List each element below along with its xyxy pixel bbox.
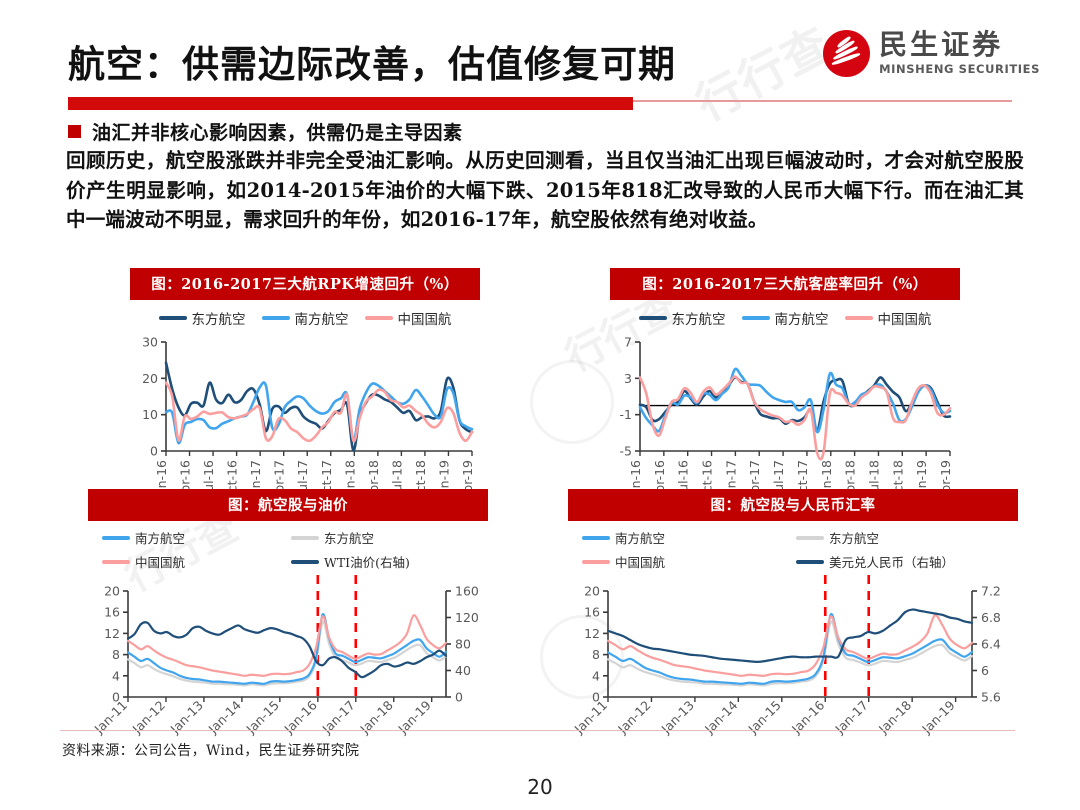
svg-text:16: 16 [104, 605, 120, 620]
chart-plot: 04812162004080120160Jan-11Jan-12Jan-13Ja… [88, 573, 488, 763]
legend-item: 美元兑人民币（右轴） [796, 552, 954, 571]
svg-text:6.8: 6.8 [981, 610, 1001, 625]
footer-divider [60, 730, 1015, 731]
legend-swatch-icon [102, 560, 130, 564]
svg-text:40: 40 [455, 663, 471, 678]
legend-swatch-icon [159, 316, 187, 320]
legend-label: 中国国航 [135, 552, 185, 571]
slide-root: 行行查 行行查 行行查 航空：供需边际改善，估值修复可期 民生证券 MINSHE… [0, 0, 1080, 810]
series-line [608, 610, 972, 662]
legend-item: 东方航空 [291, 528, 374, 547]
legend-label: 南方航空 [615, 528, 665, 547]
page-number: 20 [0, 775, 1080, 799]
legend-item: 东方航空 [159, 308, 246, 328]
legend-swatch-icon [582, 560, 610, 564]
legend-label: 美元兑人民币（右轴） [829, 552, 954, 571]
legend-item: 东方航空 [796, 528, 879, 547]
series-line [166, 363, 472, 451]
minsheng-logo-icon [823, 30, 870, 77]
legend-swatch-icon [845, 316, 873, 320]
chart-title: 图：2016-2017三大航RPK增速回升（%） [130, 268, 480, 300]
svg-text:80: 80 [455, 637, 471, 652]
legend-item: 中国国航 [845, 308, 932, 328]
legend-item: 中国国航 [102, 552, 185, 571]
legend-swatch-icon [582, 536, 610, 540]
series-line [608, 615, 972, 676]
legend-swatch-icon [639, 316, 667, 320]
chart-legend: 东方航空南方航空中国国航 [130, 300, 480, 330]
legend-swatch-icon [742, 316, 770, 320]
svg-text:20: 20 [584, 584, 600, 599]
svg-text:30: 30 [142, 335, 158, 350]
chart-legend: 东方航空南方航空中国国航 [610, 300, 960, 330]
logo-name-cn: 民生证券 [879, 31, 1040, 59]
svg-text:20: 20 [142, 371, 158, 386]
svg-text:12: 12 [104, 626, 120, 641]
svg-text:20: 20 [104, 584, 120, 599]
legend-item: WTI油价(右轴) [291, 552, 410, 571]
source-note: 资料来源：公司公告，Wind，民生证券研究院 [62, 740, 359, 760]
legend-label: 中国国航 [878, 308, 932, 328]
legend-swatch-icon [796, 560, 824, 564]
chart-legend: 南方航空东方航空中国国航WTI油价(右轴) [88, 521, 488, 573]
chart-panel-fx: 图：航空股与人民币汇率南方航空东方航空中国国航美元兑人民币（右轴）0481216… [568, 489, 1018, 767]
legend-item: 南方航空 [742, 308, 829, 328]
bullet-heading: 油汇并非核心影响因素，供需仍是主导因素 [68, 118, 463, 145]
chart-legend: 南方航空东方航空中国国航美元兑人民币（右轴） [568, 521, 1018, 573]
legend-item: 东方航空 [639, 308, 726, 328]
legend-swatch-icon [365, 316, 393, 320]
svg-text:12: 12 [584, 626, 600, 641]
svg-text:-1: -1 [620, 407, 632, 422]
company-logo: 民生证券 MINSHENG SECURITIES [823, 30, 1040, 77]
svg-text:8: 8 [112, 647, 120, 662]
legend-swatch-icon [796, 536, 824, 540]
legend-label: 南方航空 [775, 308, 829, 328]
svg-text:4: 4 [112, 668, 120, 683]
legend-item: 南方航空 [102, 528, 185, 547]
header-rule [68, 97, 1012, 105]
watermark-ring [530, 360, 614, 444]
svg-text:16: 16 [584, 605, 600, 620]
watermark: 行行查 [683, 8, 841, 134]
svg-text:6: 6 [981, 663, 989, 678]
svg-text:120: 120 [455, 610, 479, 625]
legend-swatch-icon [102, 536, 130, 540]
legend-label: 南方航空 [295, 308, 349, 328]
legend-label: 中国国航 [398, 308, 452, 328]
svg-text:8: 8 [592, 647, 600, 662]
chart-title: 图：航空股与人民币汇率 [568, 489, 1018, 521]
legend-item: 南方航空 [582, 528, 665, 547]
legend-swatch-icon [291, 536, 319, 540]
svg-text:7.2: 7.2 [981, 584, 1001, 599]
legend-item: 中国国航 [582, 552, 665, 571]
svg-text:7: 7 [624, 335, 632, 350]
legend-item: 中国国航 [365, 308, 452, 328]
svg-text:10: 10 [142, 407, 158, 422]
legend-label: 东方航空 [829, 528, 879, 547]
chart-plot: 0481216205.666.46.87.2Jan-11Jan-12Jan-13… [568, 573, 1018, 763]
legend-swatch-icon [291, 560, 319, 564]
svg-text:-5: -5 [620, 444, 632, 459]
svg-text:4: 4 [592, 668, 600, 683]
svg-text:6.4: 6.4 [981, 637, 1001, 652]
svg-text:5.6: 5.6 [981, 690, 1001, 705]
body-paragraph: 回顾历史，航空股涨跌并非完全受油汇影响。从历史回测看，当且仅当油汇出现巨幅波动时… [66, 146, 1024, 235]
page-title: 航空：供需边际改善，估值修复可期 [68, 34, 676, 88]
legend-label: 东方航空 [324, 528, 374, 547]
series-line [640, 377, 950, 460]
legend-label: 中国国航 [615, 552, 665, 571]
series-line [128, 621, 446, 685]
legend-label: WTI油价(右轴) [324, 552, 410, 571]
svg-text:0: 0 [455, 690, 463, 705]
legend-label: 东方航空 [192, 308, 246, 328]
chart-title: 图：航空股与油价 [88, 489, 488, 521]
square-bullet-icon [68, 125, 81, 138]
svg-text:0: 0 [150, 444, 158, 459]
svg-text:160: 160 [455, 584, 479, 599]
legend-swatch-icon [262, 316, 290, 320]
legend-label: 南方航空 [135, 528, 185, 547]
logo-name-en: MINSHENG SECURITIES [879, 64, 1040, 76]
chart-panel-oil: 图：航空股与油价南方航空东方航空中国国航WTI油价(右轴)04812162004… [88, 489, 488, 767]
chart-title: 图：2016-2017三大航客座率回升（%） [610, 268, 960, 300]
series-line [608, 621, 972, 685]
svg-text:3: 3 [624, 371, 632, 386]
legend-label: 东方航空 [672, 308, 726, 328]
legend-item: 南方航空 [262, 308, 349, 328]
